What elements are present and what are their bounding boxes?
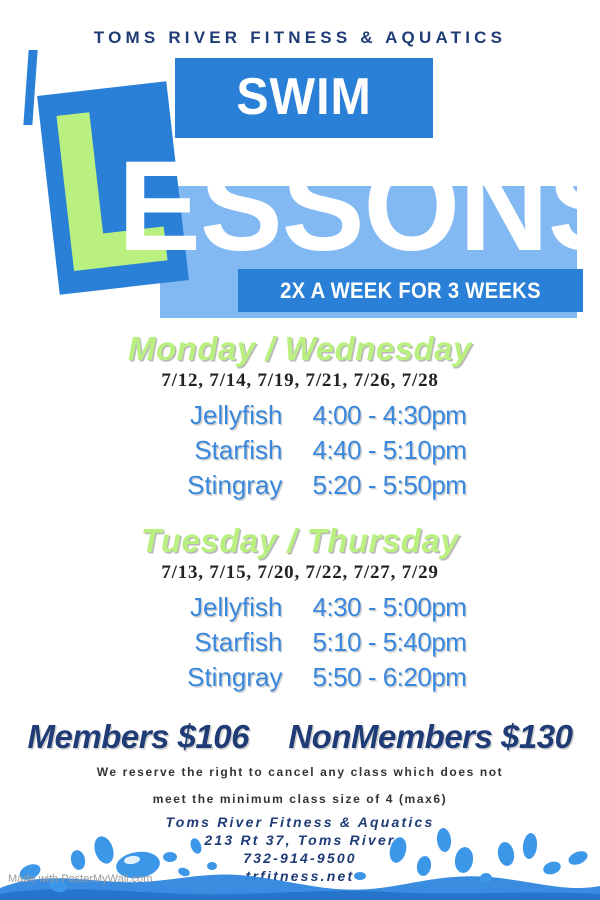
- schedule-row: Stingray 5:20 - 5:50pm: [0, 468, 600, 503]
- class-time: 4:30 - 5:00pm: [313, 590, 503, 625]
- class-level: Stingray: [98, 468, 313, 503]
- schedule-group-mon-wed: Monday / Wednesday 7/12, 7/14, 7/19, 7/2…: [0, 330, 600, 503]
- schedule-row: Stingray 5:50 - 6:20pm: [0, 660, 600, 695]
- title-composition: SWIM ESSONS 2X A WEEK FOR 3 WEEKS: [0, 58, 600, 318]
- class-level: Stingray: [98, 660, 313, 695]
- class-time: 4:00 - 4:30pm: [313, 398, 503, 433]
- poster-canvas: TOMS RIVER FITNESS & AQUATICS SWIM ESSON…: [0, 0, 600, 900]
- class-time: 5:10 - 5:40pm: [313, 625, 503, 660]
- schedule-row: Starfish 5:10 - 5:40pm: [0, 625, 600, 660]
- schedule-row: Jellyfish 4:00 - 4:30pm: [0, 398, 600, 433]
- title-essons-text: ESSONS: [118, 132, 574, 282]
- class-level: Starfish: [98, 625, 313, 660]
- title-swim-text: SWIM: [184, 60, 424, 134]
- price-nonmembers: NonMembers $130: [288, 718, 572, 755]
- class-time: 5:50 - 6:20pm: [313, 660, 503, 695]
- schedule-dates: 7/12, 7/14, 7/19, 7/21, 7/26, 7/28: [0, 370, 600, 392]
- contact-address: 213 Rt 37, Toms River: [0, 832, 600, 848]
- class-level: Jellyfish: [98, 398, 313, 433]
- class-level: Jellyfish: [98, 590, 313, 625]
- class-level: Starfish: [98, 433, 313, 468]
- schedule-row: Jellyfish 4:30 - 5:00pm: [0, 590, 600, 625]
- schedule-day-label: Monday / Wednesday: [0, 330, 600, 368]
- schedule-day-label: Tuesday / Thursday: [0, 522, 600, 560]
- disclaimer-line-2: meet the minimum class size of 4 (max6): [0, 792, 600, 806]
- class-time: 5:20 - 5:50pm: [313, 468, 503, 503]
- schedule-row: Starfish 4:40 - 5:10pm: [0, 433, 600, 468]
- postermywall-watermark: Made with PosterMyWall.com: [8, 873, 152, 885]
- frequency-banner-text: 2X A WEEK FOR 3 WEEKS: [252, 269, 569, 312]
- schedule-rows: Jellyfish 4:30 - 5:00pm Starfish 5:10 - …: [0, 590, 600, 695]
- page-title: TOMS RIVER FITNESS & AQUATICS: [0, 28, 600, 48]
- schedule-dates: 7/13, 7/15, 7/20, 7/22, 7/27, 7/29: [0, 562, 600, 584]
- price-members: Members $106: [28, 718, 249, 755]
- schedule-group-tue-thu: Tuesday / Thursday 7/13, 7/15, 7/20, 7/2…: [0, 522, 600, 695]
- contact-name: Toms River Fitness & Aquatics: [0, 814, 600, 830]
- schedule-rows: Jellyfish 4:00 - 4:30pm Starfish 4:40 - …: [0, 398, 600, 503]
- pricing-row: Members $106 NonMembers $130: [0, 718, 600, 756]
- disclaimer-line-1: We reserve the right to cancel any class…: [0, 765, 600, 779]
- class-time: 4:40 - 5:10pm: [313, 433, 503, 468]
- contact-phone[interactable]: 732-914-9500: [0, 850, 600, 866]
